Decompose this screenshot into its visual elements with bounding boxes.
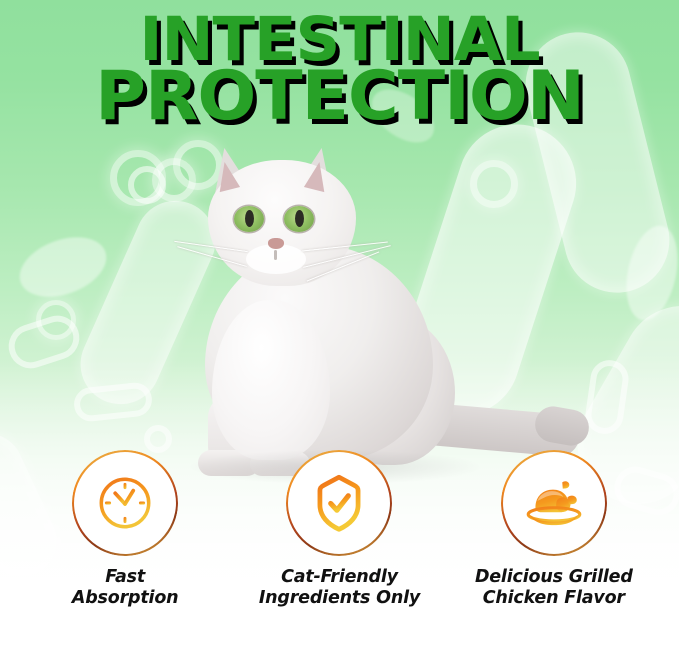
feature-label-line-1: Cat-Friendly [241, 567, 437, 588]
shield-check-icon [306, 470, 372, 536]
feature-label-line-1: Delicious Grilled [456, 567, 652, 588]
headline-line-2: PROTECTION [0, 68, 679, 126]
cat-nose [268, 238, 284, 249]
feature-label-line-2: Absorption [27, 588, 223, 609]
bacteria-blob-icon [619, 221, 679, 325]
feature-label: Delicious Grilled Chicken Flavor [456, 567, 652, 608]
cat-pupil-left [245, 210, 254, 227]
feature-label: Fast Absorption [27, 567, 223, 608]
cat-pupil-right [295, 210, 304, 227]
feature-list: Fast Absorption [0, 451, 679, 651]
clock-icon [92, 470, 158, 536]
roast-chicken-icon [521, 470, 587, 536]
headline: INTESTINAL PROTECTION [0, 14, 679, 127]
feature-item-chicken-flavor: Delicious Grilled Chicken Flavor [456, 451, 652, 608]
feature-label-line-2: Ingredients Only [241, 588, 437, 609]
feature-badge [73, 451, 177, 555]
feature-label-line-1: Fast [27, 567, 223, 588]
bacteria-blob-icon [11, 226, 114, 308]
bacteria-ring-icon [36, 300, 76, 340]
feature-item-cat-friendly: Cat-Friendly Ingredients Only [241, 451, 437, 608]
feature-item-fast-absorption: Fast Absorption [27, 451, 223, 608]
product-infographic-poster: INTESTINAL PROTECTION [0, 0, 679, 659]
feature-badge [287, 451, 391, 555]
feature-badge [502, 451, 606, 555]
feature-label-line-2: Chicken Flavor [456, 588, 652, 609]
bacteria-capsule-icon [583, 358, 631, 437]
bacteria-capsule-icon [3, 310, 85, 374]
bacteria-capsule-icon [72, 381, 153, 423]
feature-label: Cat-Friendly Ingredients Only [241, 567, 437, 608]
cat-mouth [274, 250, 277, 260]
